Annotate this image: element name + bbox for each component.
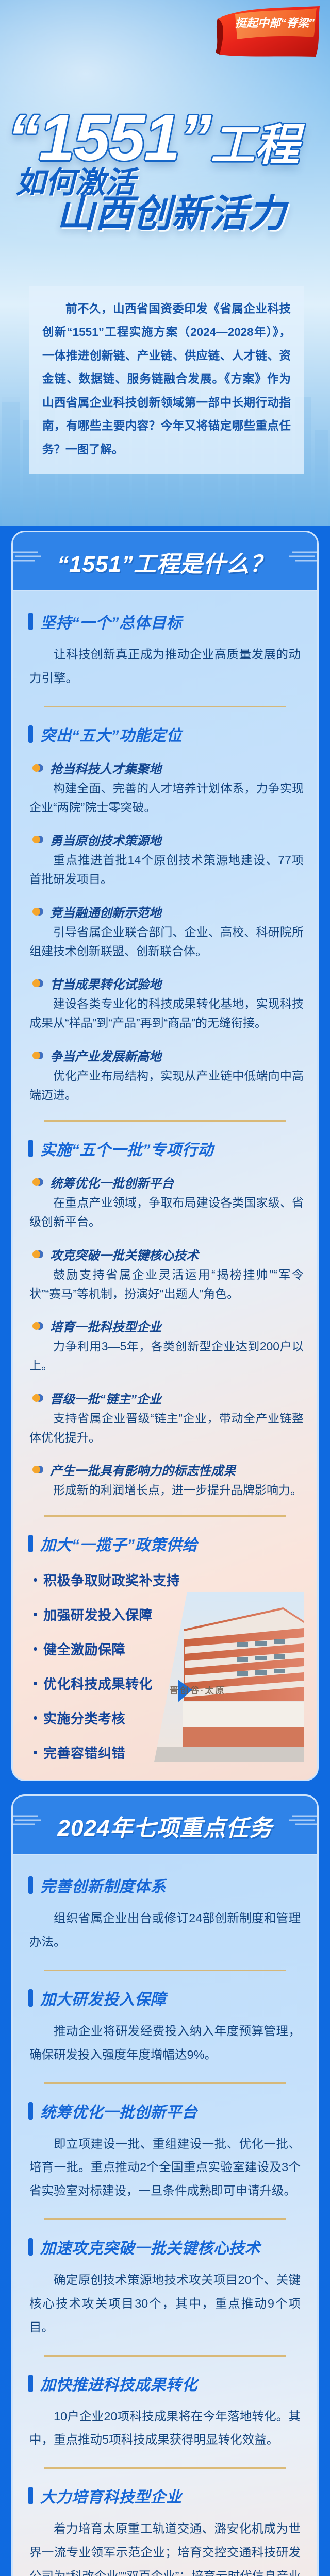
task-title: 加速攻克突破一批关键核心技术 bbox=[40, 2235, 260, 2258]
panel-1-header: “1551”工程是什么？ bbox=[13, 532, 317, 591]
section-paragraph: 让科技创新真正成为推动企业高质量发展的动力引擎。 bbox=[29, 643, 301, 690]
divider bbox=[44, 1515, 286, 1517]
section-heading: 加速攻克突破一批关键核心技术 bbox=[28, 2235, 304, 2258]
bullet-text: 构建全面、完善的人才培养计划体系，力争实现企业“两院”院士零突破。 bbox=[29, 779, 304, 818]
bullet-text: 在重点产业领域，争取布局建设各类国家级、省级创新平台。 bbox=[29, 1193, 304, 1232]
policy-item-label: 积极争取财政奖补支持 bbox=[43, 1570, 180, 1589]
policy-item-label: 实施分类考核 bbox=[43, 1708, 125, 1727]
section-heading: 统筹优化一批创新平台 bbox=[28, 2099, 304, 2122]
section-heading: 加大研发投入保障 bbox=[28, 1987, 304, 2009]
bullet-text: 力争利用3—5年，各类创新型企业达到200户以上。 bbox=[29, 1337, 304, 1376]
task-text: 确定原创技术策源地技术攻关项目20个、关键核心技术攻关项目30个，其中，重点推动… bbox=[29, 2268, 301, 2339]
task-title: 加快推进科技成果转化 bbox=[40, 2372, 197, 2395]
section-heading: 大力培育科技型企业 bbox=[28, 2484, 304, 2507]
heading-bar-icon bbox=[28, 2102, 33, 2120]
section-heading: 加快推进科技成果转化 bbox=[28, 2372, 304, 2395]
bullet-label: 竞当融通创新示范地 bbox=[50, 903, 161, 921]
flag-badge-icon: 挺起中部“脊梁” bbox=[214, 5, 323, 62]
infographic-poster: 挺起中部“脊梁” “1551”工程 如何激活 山西创新活力 前不久，山西省国资委… bbox=[0, 0, 330, 2576]
decor-lines-right-icon bbox=[289, 1814, 319, 1827]
heading-bar-icon bbox=[28, 2375, 33, 2392]
task-item: 统筹优化一批创新平台 即立项建设一批、重组建设一批、优化一批、培育一批。重点推动… bbox=[26, 2099, 304, 2203]
task-text: 组织省属企业出台或修订24部创新制度和管理办法。 bbox=[29, 1907, 301, 1954]
panel-2-header: 2024年七项重点任务 bbox=[13, 1796, 317, 1855]
policy-item: 完善容错纠错 bbox=[34, 1743, 304, 1762]
bullet-label: 产生一批具有影响力的标志性成果 bbox=[50, 1461, 236, 1479]
policy-item-label: 健全激励保障 bbox=[43, 1639, 125, 1658]
block-five-positions: 突出“五大”功能定位 抢当科技人才集聚地 构建全面、完善的人才培养计划体系，力争… bbox=[26, 723, 304, 1105]
orange-dot-icon bbox=[32, 1466, 44, 1473]
task-text: 即立项建设一批、重组建设一批、优化一批、培育一批。重点推动2个全国重点实验室建设… bbox=[29, 2132, 301, 2203]
orange-dot-icon bbox=[32, 1322, 44, 1330]
orange-dot-icon bbox=[32, 1178, 44, 1186]
panel-1-body: 坚持“一个”总体目标 让科技创新真正成为推动企业高质量发展的动力引擎。 突出“五… bbox=[13, 591, 317, 1780]
task-text: 推动企业将研发经费投入纳入年度预算管理，确保研发投入强度年度增幅达9%。 bbox=[29, 2020, 301, 2067]
section-heading: 加大“一揽子”政策供给 bbox=[28, 1532, 304, 1555]
bullet-label: 抢当科技人才集聚地 bbox=[50, 759, 161, 777]
task-title: 加大研发投入保障 bbox=[40, 1987, 166, 2009]
heading-bar-icon bbox=[28, 2487, 33, 2504]
heading-bar-icon bbox=[28, 1535, 33, 1552]
bullet-heading: 培育一批科技型企业 bbox=[32, 1317, 304, 1335]
bullet-text: 支持省属企业晋级“链主”企业，带动全产业链整体优化提升。 bbox=[29, 1409, 304, 1448]
square-dot-icon bbox=[34, 1613, 37, 1616]
policy-item-label: 优化科技成果转化 bbox=[43, 1674, 153, 1693]
bullet-text: 形成新的利润增长点，进一步提升品牌影响力。 bbox=[29, 1481, 304, 1500]
task-text: 着力培育太原重工轨道交通、潞安化机成为世界一流专业领军示范企业；培育交控交通科技… bbox=[29, 2517, 301, 2576]
task-title: 大力培育科技型企业 bbox=[40, 2484, 182, 2507]
section-heading: 完善创新制度体系 bbox=[28, 1874, 304, 1896]
hero-subtitle-2: 山西创新活力 bbox=[0, 194, 330, 234]
divider bbox=[44, 2467, 286, 2469]
bullet-label: 攻克突破一批关键核心技术 bbox=[50, 1245, 199, 1263]
heading-bar-icon bbox=[28, 2238, 33, 2256]
task-item: 加速攻克突破一批关键核心技术 确定原创技术策源地技术攻关项目20个、关键核心技术… bbox=[26, 2235, 304, 2339]
heading-bar-icon bbox=[28, 613, 33, 630]
panel-1-title: “1551”工程是什么？ bbox=[13, 546, 317, 579]
panel-what-is-1551: “1551”工程是什么？ 坚持“一个”总体目标 让科技创新真正成为推动企业高质量… bbox=[11, 531, 319, 1781]
divider bbox=[44, 1120, 286, 1122]
bullet-label: 培育一批科技型企业 bbox=[50, 1317, 161, 1335]
bullet-label: 晋级一批“链主”企业 bbox=[50, 1389, 161, 1407]
orange-dot-icon bbox=[32, 1250, 44, 1258]
bullet-text: 重点推进首批14个原创技术策源地建设、77项首批研发项目。 bbox=[29, 851, 304, 889]
heading-bar-icon bbox=[28, 1140, 33, 1157]
bullet-heading: 勇当原创技术策源地 bbox=[32, 831, 304, 849]
bullet-text: 建设各类专业化的科技成果转化基地，实现科技成果从“样品”到“产品”再到“商品”的… bbox=[29, 994, 304, 1033]
section-heading: 突出“五大”功能定位 bbox=[28, 723, 304, 745]
decor-lines-left-icon bbox=[11, 550, 41, 563]
bullet-text: 鼓励支持省属企业灵活运用“揭榜挂帅”“军令状”“赛马”等机制，扮演好“出题人”角… bbox=[29, 1265, 304, 1304]
hero-title-group: “1551”工程 如何激活 山西创新活力 bbox=[0, 106, 330, 234]
divider bbox=[44, 2218, 286, 2220]
square-dot-icon bbox=[34, 1647, 37, 1651]
heading-bar-icon bbox=[28, 725, 33, 743]
bullet-heading: 统筹优化一批创新平台 bbox=[32, 1173, 304, 1191]
section-heading-label: 加大“一揽子”政策供给 bbox=[40, 1532, 198, 1555]
section-heading-label: 实施“五个一批”专项行动 bbox=[40, 1137, 213, 1160]
decor-lines-left-icon bbox=[11, 1814, 41, 1827]
divider bbox=[44, 1970, 286, 1971]
section-heading-label: 突出“五大”功能定位 bbox=[40, 723, 182, 745]
bullet-heading: 攻克突破一批关键核心技术 bbox=[32, 1245, 304, 1263]
body-wrapper: “1551”工程是什么？ 坚持“一个”总体目标 让科技创新真正成为推动企业高质量… bbox=[0, 526, 330, 2576]
bullet-heading: 抢当科技人才集聚地 bbox=[32, 759, 304, 777]
task-item: 加快推进科技成果转化 10户企业20项科技成果将在今年落地转化。其中，重点推动5… bbox=[26, 2372, 304, 2452]
policy-item: 加强研发投入保障 bbox=[34, 1605, 304, 1624]
panel-2-title: 2024年七项重点任务 bbox=[13, 1809, 317, 1842]
hero-title-main: “1551”工程 bbox=[0, 106, 330, 171]
hero-title-suffix: 工程 bbox=[210, 121, 299, 170]
bullet-label: 甘当成果转化试验地 bbox=[50, 974, 161, 992]
orange-dot-icon bbox=[32, 908, 44, 916]
bullet-heading: 甘当成果转化试验地 bbox=[32, 974, 304, 992]
task-text: 10户企业20项科技成果将在今年落地转化。其中，重点推动5项科技成果获得明显转化… bbox=[29, 2405, 301, 2452]
orange-dot-icon bbox=[32, 836, 44, 843]
bullet-heading: 竞当融通创新示范地 bbox=[32, 903, 304, 921]
section-heading-label: 坚持“一个”总体目标 bbox=[40, 610, 182, 633]
policy-item: 优化科技成果转化 bbox=[34, 1674, 304, 1693]
policy-item-label: 加强研发投入保障 bbox=[43, 1605, 153, 1624]
intro-paragraph: 前不久，山西省国资委印发《省属企业科技创新“1551”工程实施方案（2024—2… bbox=[42, 297, 291, 461]
policy-item-label: 完善容错纠错 bbox=[43, 1743, 125, 1762]
hero-title-number: “1551” bbox=[7, 101, 210, 174]
square-dot-icon bbox=[34, 1578, 37, 1582]
bullet-label: 统筹优化一批创新平台 bbox=[50, 1173, 174, 1191]
hero-section: 挺起中部“脊梁” “1551”工程 如何激活 山西创新活力 前不久，山西省国资委… bbox=[0, 0, 330, 526]
block-five-batches: 实施“五个一批”专项行动 统筹优化一批创新平台 在重点产业领域，争取布局建设各类… bbox=[26, 1137, 304, 1500]
square-dot-icon bbox=[34, 1751, 37, 1754]
task-title: 统筹优化一批创新平台 bbox=[40, 2099, 197, 2122]
square-dot-icon bbox=[34, 1682, 37, 1685]
bullet-heading: 晋级一批“链主”企业 bbox=[32, 1389, 304, 1407]
divider bbox=[44, 706, 286, 707]
flag-badge-text: 挺起中部“脊梁” bbox=[235, 16, 315, 29]
bullet-label: 争当产业发展新高地 bbox=[50, 1046, 161, 1064]
panel-2024-tasks: 2024年七项重点任务 完善创新制度体系 组织省属企业出台或修订24部创新制度和… bbox=[11, 1794, 319, 2576]
task-item: 加大研发投入保障 推动企业将研发经费投入纳入年度预算管理，确保研发投入强度年度增… bbox=[26, 1987, 304, 2067]
heading-bar-icon bbox=[28, 1989, 33, 2007]
bullet-text: 优化产业布局结构，实现从产业链中低端向中高端迈进。 bbox=[29, 1066, 304, 1105]
bullet-heading: 争当产业发展新高地 bbox=[32, 1046, 304, 1064]
orange-dot-icon bbox=[32, 764, 44, 772]
square-dot-icon bbox=[34, 1716, 37, 1720]
heading-bar-icon bbox=[28, 1876, 33, 1894]
divider bbox=[44, 2355, 286, 2357]
bullet-text: 引导省属企业联合部门、企业、高校、科研院所组建技术创新联盟、创新联合体。 bbox=[29, 923, 304, 961]
policy-item: 积极争取财政奖补支持 bbox=[34, 1570, 304, 1589]
task-title: 完善创新制度体系 bbox=[40, 1874, 166, 1896]
orange-dot-icon bbox=[32, 1394, 44, 1402]
intro-card: 前不久，山西省国资委印发《省属企业科技创新“1551”工程实施方案（2024—2… bbox=[29, 286, 304, 474]
section-heading: 坚持“一个”总体目标 bbox=[28, 610, 304, 633]
block-policy-supply: 加大“一揽子”政策供给 积极争取财政奖补支持 加强研发投入保障 健全激励保障 bbox=[26, 1532, 304, 1762]
orange-dot-icon bbox=[32, 1052, 44, 1059]
policy-item: 实施分类考核 bbox=[34, 1708, 304, 1727]
bullet-heading: 产生一批具有影响力的标志性成果 bbox=[32, 1461, 304, 1479]
orange-dot-icon bbox=[32, 979, 44, 987]
decor-lines-right-icon bbox=[289, 550, 319, 563]
task-item: 完善创新制度体系 组织省属企业出台或修订24部创新制度和管理办法。 bbox=[26, 1874, 304, 1954]
policy-item: 健全激励保障 bbox=[34, 1639, 304, 1658]
bullet-label: 勇当原创技术策源地 bbox=[50, 831, 161, 849]
section-heading: 实施“五个一批”专项行动 bbox=[28, 1137, 304, 1160]
divider bbox=[44, 2082, 286, 2084]
panel-2-body: 完善创新制度体系 组织省属企业出台或修订24部创新制度和管理办法。 加大研发投入… bbox=[13, 1855, 317, 2576]
block-overall-goal: 坚持“一个”总体目标 让科技创新真正成为推动企业高质量发展的动力引擎。 bbox=[26, 610, 304, 690]
task-item: 大力培育科技型企业 着力培育太原重工轨道交通、潞安化机成为世界一流专业领军示范企… bbox=[26, 2484, 304, 2576]
